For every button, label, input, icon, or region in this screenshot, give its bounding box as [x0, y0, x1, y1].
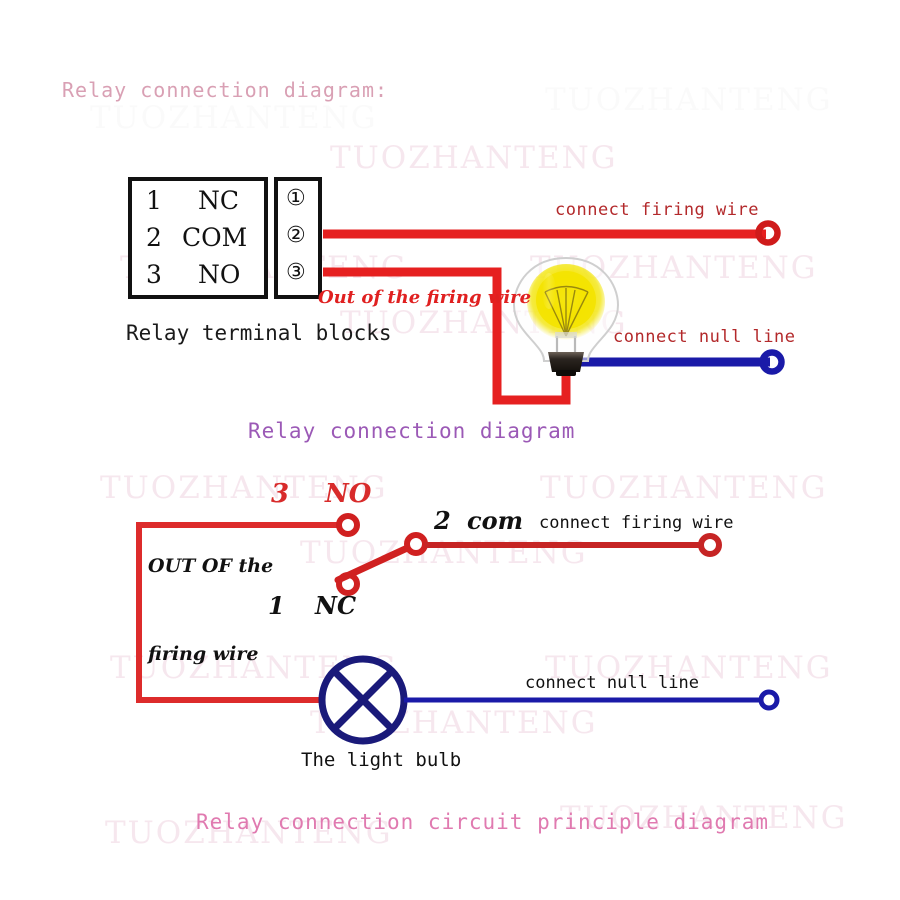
terminal-pin-1-icon: ①	[286, 188, 306, 210]
terminal-row-1-number: 1	[146, 188, 162, 213]
diagram-canvas: TUOZHANTENGTUOZHANTENGTUOZHANTENGTUOZHAN…	[0, 0, 900, 900]
label-firing-wire: firing wire	[148, 645, 258, 664]
relay-terminal-names-box: 1 NC 2 COM 3 NO	[128, 177, 268, 299]
terminal-row-1-name: NC	[198, 188, 239, 213]
schematic-terminal-no	[339, 516, 357, 534]
page-title: Relay connection diagram:	[62, 80, 388, 100]
label-connect-null-line-top: connect null line	[613, 329, 796, 346]
label-connect-firing-wire-top: connect firing wire	[555, 202, 759, 219]
top-diagram-caption: Relay connection diagram	[248, 421, 575, 442]
label-the-light-bulb: The light bulb	[301, 751, 461, 770]
label-connect-null-line-bottom: connect null line	[525, 675, 699, 692]
schematic-switch-arm	[338, 544, 416, 580]
schematic-live-loop	[139, 525, 344, 700]
label-out-of-the: OUT OF the	[148, 557, 273, 576]
relay-terminal-blocks-caption: Relay terminal blocks	[126, 323, 392, 344]
label-out-of-the-firing-wire: Out of the firing wire	[318, 289, 531, 307]
terminal-pin-2-icon: ②	[286, 225, 306, 247]
schematic-live-right-wire	[425, 536, 719, 554]
schematic-neutral-wire	[404, 692, 777, 708]
relay-terminal-pins-box: ① ② ③	[274, 177, 322, 299]
terminal-row-2-name: COM	[182, 225, 247, 250]
schematic-label-com-name: com	[467, 509, 523, 533]
terminal-row-2-number: 2	[146, 225, 162, 250]
bottom-diagram-caption: Relay connection circuit principle diagr…	[196, 812, 769, 833]
terminal-pin-3-icon: ③	[286, 262, 306, 284]
schematic-label-nc-number: 1	[268, 594, 285, 618]
schematic-terminal-com	[407, 535, 425, 553]
lamp-symbol	[322, 659, 404, 741]
schematic-label-nc-name: NC	[315, 594, 356, 618]
terminal-row-3-name: NO	[198, 262, 240, 287]
schematic-label-no-name: NO	[325, 481, 371, 507]
terminal-row-3-number: 3	[146, 262, 162, 287]
top-neutral-wire	[561, 353, 782, 372]
top-live-wire-pin2	[323, 224, 778, 243]
label-connect-firing-wire-bottom: connect firing wire	[539, 515, 733, 532]
schematic-label-com-number: 2	[434, 509, 451, 533]
schematic-label-no-number: 3	[271, 481, 289, 507]
